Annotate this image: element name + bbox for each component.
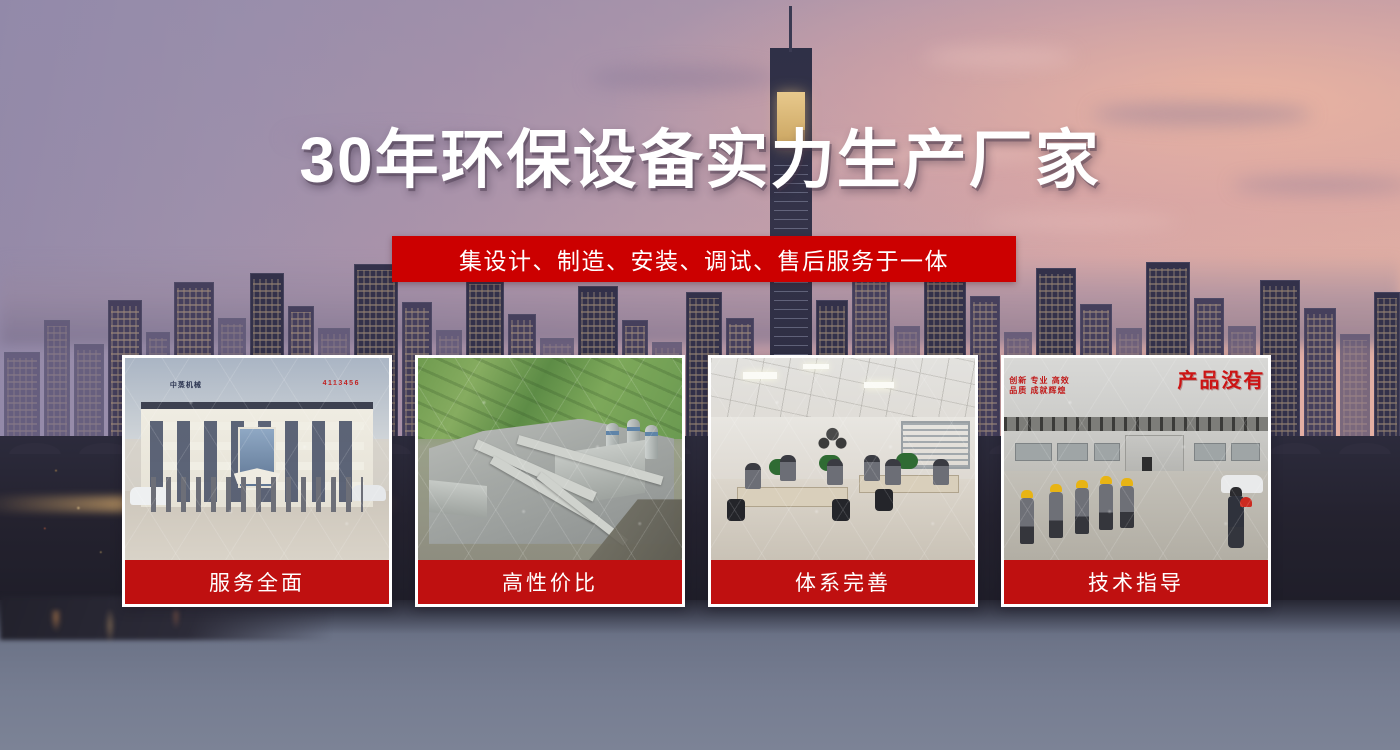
feature-card-system[interactable]: 体系完善: [708, 355, 978, 607]
cloud: [588, 65, 778, 91]
card-photo-office-interior: [711, 358, 975, 560]
card-photo-aerial-plant: [418, 358, 682, 560]
card-caption: 体系完善: [711, 560, 975, 604]
card-caption: 高性价比: [418, 560, 682, 604]
cloud: [924, 47, 1074, 67]
card-photo-office-building: 中蒸机械 4113456: [125, 358, 389, 560]
page-title: 30年环保设备实力生产厂家: [0, 128, 1400, 192]
subtitle-banner: 集设计、制造、安装、调试、售后服务于一体: [392, 236, 1016, 282]
card-caption: 服务全面: [125, 560, 389, 604]
wall-decal: [811, 423, 853, 451]
card-photo-worker-briefing: 产品没有 创新 专业 高效品质 成就辉煌: [1004, 358, 1268, 560]
factory-wall-slogan-large: 产品没有: [1177, 364, 1265, 393]
factory-wall-slogan-small: 创新 专业 高效品质 成就辉煌: [1009, 376, 1069, 396]
feature-card-list: 中蒸机械 4113456 服务全面: [122, 355, 1277, 607]
card-caption: 技术指导: [1004, 560, 1268, 604]
tower-spire: [789, 6, 792, 52]
feature-card-service[interactable]: 中蒸机械 4113456 服务全面: [122, 355, 392, 607]
feature-card-value[interactable]: 高性价比: [415, 355, 685, 607]
subtitle-text: 集设计、制造、安装、调试、售后服务于一体: [459, 242, 949, 276]
building-phone-number: 4113456: [323, 380, 360, 387]
cloud: [980, 214, 1180, 228]
water-light-reflection: [20, 610, 320, 680]
feature-card-training[interactable]: 产品没有 创新 专业 高效品质 成就辉煌 技术指导: [1001, 355, 1271, 607]
promo-banner: 30年环保设备实力生产厂家 集设计、制造、安装、调试、售后服务于一体 中蒸机械 …: [0, 0, 1400, 750]
building-company-sign: 中蒸机械: [170, 380, 202, 390]
